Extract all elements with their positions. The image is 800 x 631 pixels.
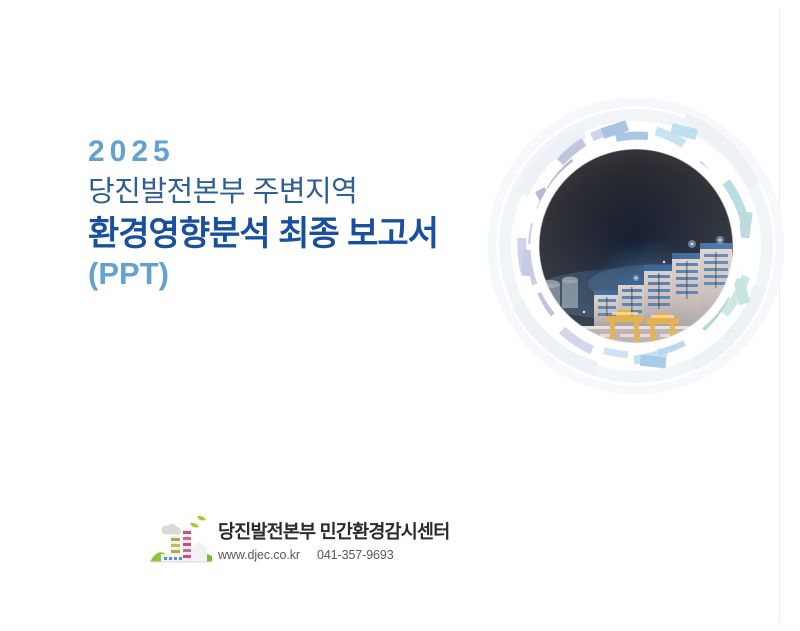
power-plant-night-photo-icon <box>488 98 784 394</box>
website-url: www.djec.co.kr <box>218 548 300 562</box>
factory-green-hills-logo-icon <box>150 512 212 570</box>
report-cover-slide: 2025 당진발전본부 주변지역 환경영향분석 최종 보고서 (PPT) <box>0 0 800 631</box>
title-block: 2025 당진발전본부 주변지역 환경영향분석 최종 보고서 (PPT) <box>88 134 508 293</box>
phone-number: 041-357-9693 <box>317 548 394 562</box>
organization-contact: www.djec.co.kr041-357-9693 <box>218 548 449 563</box>
hero-circular-graphic <box>488 98 784 394</box>
footer-text-group: 당진발전본부 민간환경감시센터 www.djec.co.kr041-357-96… <box>218 519 449 562</box>
report-main-title: 환경영향분석 최종 보고서 <box>88 214 508 255</box>
footer-branding: 당진발전본부 민간환경감시센터 www.djec.co.kr041-357-96… <box>150 512 449 570</box>
page-frame-line-bottom <box>0 624 800 625</box>
report-format-label: (PPT) <box>88 255 508 292</box>
organization-name: 당진발전본부 민간환경감시센터 <box>218 521 449 543</box>
report-subtitle: 당진발전본부 주변지역 <box>88 175 508 209</box>
report-year: 2025 <box>88 134 508 169</box>
